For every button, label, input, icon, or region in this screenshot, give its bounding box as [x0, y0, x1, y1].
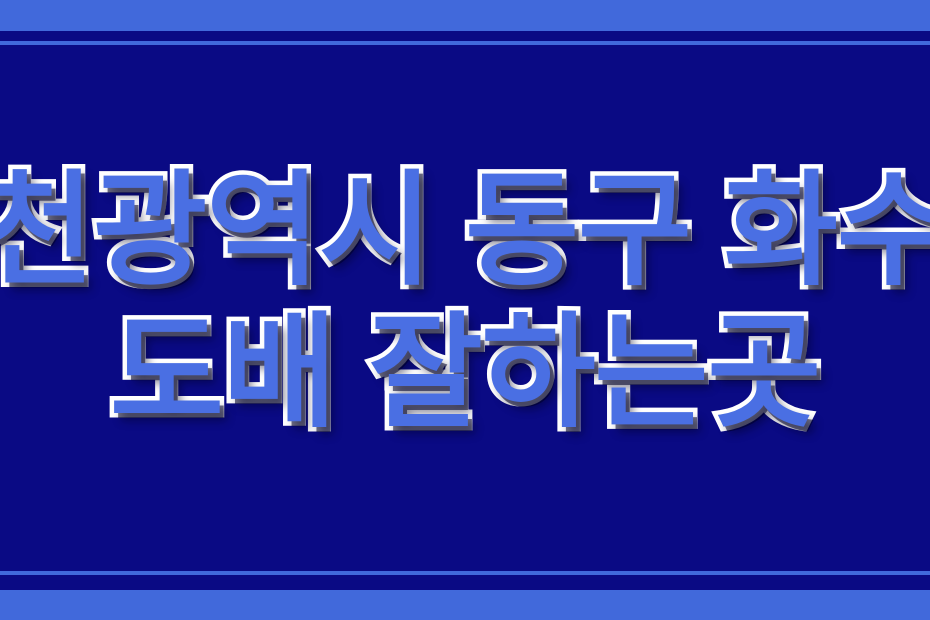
bottom-accent-rule	[0, 571, 930, 575]
bottom-accent-bar	[0, 590, 930, 620]
headline-line-2: 도배 잘하는곳	[110, 311, 820, 435]
headline-line-1: 인천광역시 동구 화수동	[0, 169, 930, 293]
thumbnail-canvas: 인천광역시 동구 화수동 도배 잘하는곳	[0, 0, 930, 620]
headline-block: 인천광역시 동구 화수동 도배 잘하는곳	[0, 0, 930, 620]
